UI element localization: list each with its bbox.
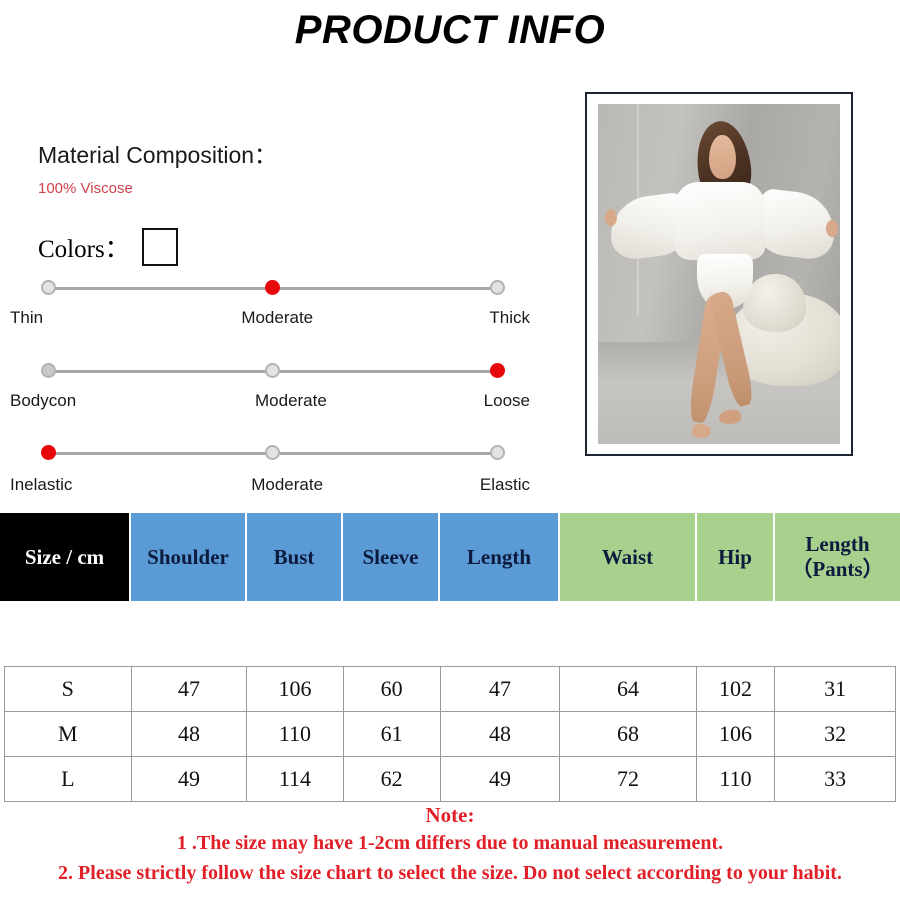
product-photo — [598, 104, 840, 444]
slider-knob-bodycon[interactable] — [41, 363, 56, 378]
slider-knob-moderate[interactable] — [265, 363, 280, 378]
header-cell-sleeve: Sleeve — [343, 513, 440, 601]
table-row: L 49 114 62 49 72 110 33 — [5, 757, 896, 802]
slider-knob-inelastic-selected[interactable] — [41, 445, 56, 460]
slider-label-inelastic: Inelastic — [10, 475, 72, 495]
slider-thickness-labels: Thin Moderate Thick — [10, 308, 530, 328]
colors-label: Colors： — [38, 229, 130, 265]
slider-label-elastic: Elastic — [480, 475, 530, 495]
photo-pouf-top — [743, 274, 806, 332]
slider-knob-moderate-selected[interactable] — [265, 280, 280, 295]
header-cell-pants-length: Length （Pants） — [775, 513, 900, 601]
note-line-2: 2. Please strictly follow the size chart… — [0, 858, 900, 888]
photo-crop-top — [675, 182, 765, 260]
table-row: S 47 106 60 47 64 102 31 — [5, 667, 896, 712]
color-swatch-white[interactable] — [142, 228, 178, 266]
slider-elasticity[interactable] — [48, 445, 498, 461]
slider-label-loose: Loose — [484, 391, 530, 411]
material-composition-value: 100% Viscose — [38, 180, 133, 197]
slider-knob-loose-selected[interactable] — [490, 363, 505, 378]
table-row: M 48 110 61 48 68 106 32 — [5, 712, 896, 757]
header-cell-size: Size / cm — [0, 513, 131, 601]
header-cell-hip: Hip — [697, 513, 775, 601]
product-photo-frame — [585, 92, 853, 456]
cell-length: 47 — [440, 667, 560, 712]
slider-fit[interactable] — [48, 363, 498, 379]
header-cell-shoulder: Shoulder — [131, 513, 247, 601]
slider-label-moderate: Moderate — [255, 391, 327, 411]
slider-fit-labels: Bodycon Moderate Loose — [10, 391, 530, 411]
cell-shoulder: 49 — [131, 757, 247, 802]
header-cell-pants-length-line2: （Pants） — [791, 557, 883, 582]
cell-waist: 64 — [560, 667, 697, 712]
size-chart-header: Size / cm Shoulder Bust Sleeve Length Wa… — [0, 513, 900, 601]
cell-waist: 72 — [560, 757, 697, 802]
slider-knob-thin[interactable] — [41, 280, 56, 295]
cell-pants-length: 32 — [775, 712, 896, 757]
header-cell-pants-length-line1: Length — [791, 532, 883, 557]
slider-label-moderate: Moderate — [241, 308, 313, 328]
slider-elasticity-labels: Inelastic Moderate Elastic — [10, 475, 530, 495]
cell-shoulder: 47 — [131, 667, 247, 712]
cell-sleeve: 61 — [343, 712, 440, 757]
note-line-1: 1 .The size may have 1-2cm differs due t… — [0, 828, 900, 858]
slider-thickness[interactable] — [48, 280, 498, 296]
cell-bust: 106 — [247, 667, 343, 712]
cell-pants-length: 33 — [775, 757, 896, 802]
slider-label-thick: Thick — [489, 308, 530, 328]
note-block: Note: 1 .The size may have 1-2cm differs… — [0, 802, 900, 888]
slider-knob-thick[interactable] — [490, 280, 505, 295]
cell-length: 49 — [440, 757, 560, 802]
cell-bust: 110 — [247, 712, 343, 757]
colors-row: Colors： — [38, 228, 178, 266]
photo-hand-right — [826, 220, 838, 237]
slider-label-bodycon: Bodycon — [10, 391, 76, 411]
note-title: Note: — [0, 802, 900, 828]
cell-waist: 68 — [560, 712, 697, 757]
cell-size: M — [5, 712, 132, 757]
cell-size: S — [5, 667, 132, 712]
photo-model-face — [709, 135, 736, 179]
slider-label-moderate: Moderate — [251, 475, 323, 495]
cell-hip: 102 — [696, 667, 774, 712]
header-cell-bust: Bust — [247, 513, 343, 601]
cell-shoulder: 48 — [131, 712, 247, 757]
cell-bust: 114 — [247, 757, 343, 802]
cell-hip: 106 — [696, 712, 774, 757]
cell-size: L — [5, 757, 132, 802]
slider-label-thin: Thin — [10, 308, 43, 328]
cell-sleeve: 62 — [343, 757, 440, 802]
cell-pants-length: 31 — [775, 667, 896, 712]
cell-hip: 110 — [696, 757, 774, 802]
slider-knob-elastic[interactable] — [490, 445, 505, 460]
size-chart-body: S 47 106 60 47 64 102 31 M 48 110 61 48 … — [5, 667, 896, 802]
cell-sleeve: 60 — [343, 667, 440, 712]
material-composition-label: Material Composition： — [38, 136, 277, 170]
size-chart-table: S 47 106 60 47 64 102 31 M 48 110 61 48 … — [4, 666, 896, 802]
cell-length: 48 — [440, 712, 560, 757]
page-title: PRODUCT INFO — [0, 8, 900, 53]
header-cell-waist: Waist — [560, 513, 697, 601]
slider-knob-moderate[interactable] — [265, 445, 280, 460]
header-cell-length: Length — [440, 513, 560, 601]
